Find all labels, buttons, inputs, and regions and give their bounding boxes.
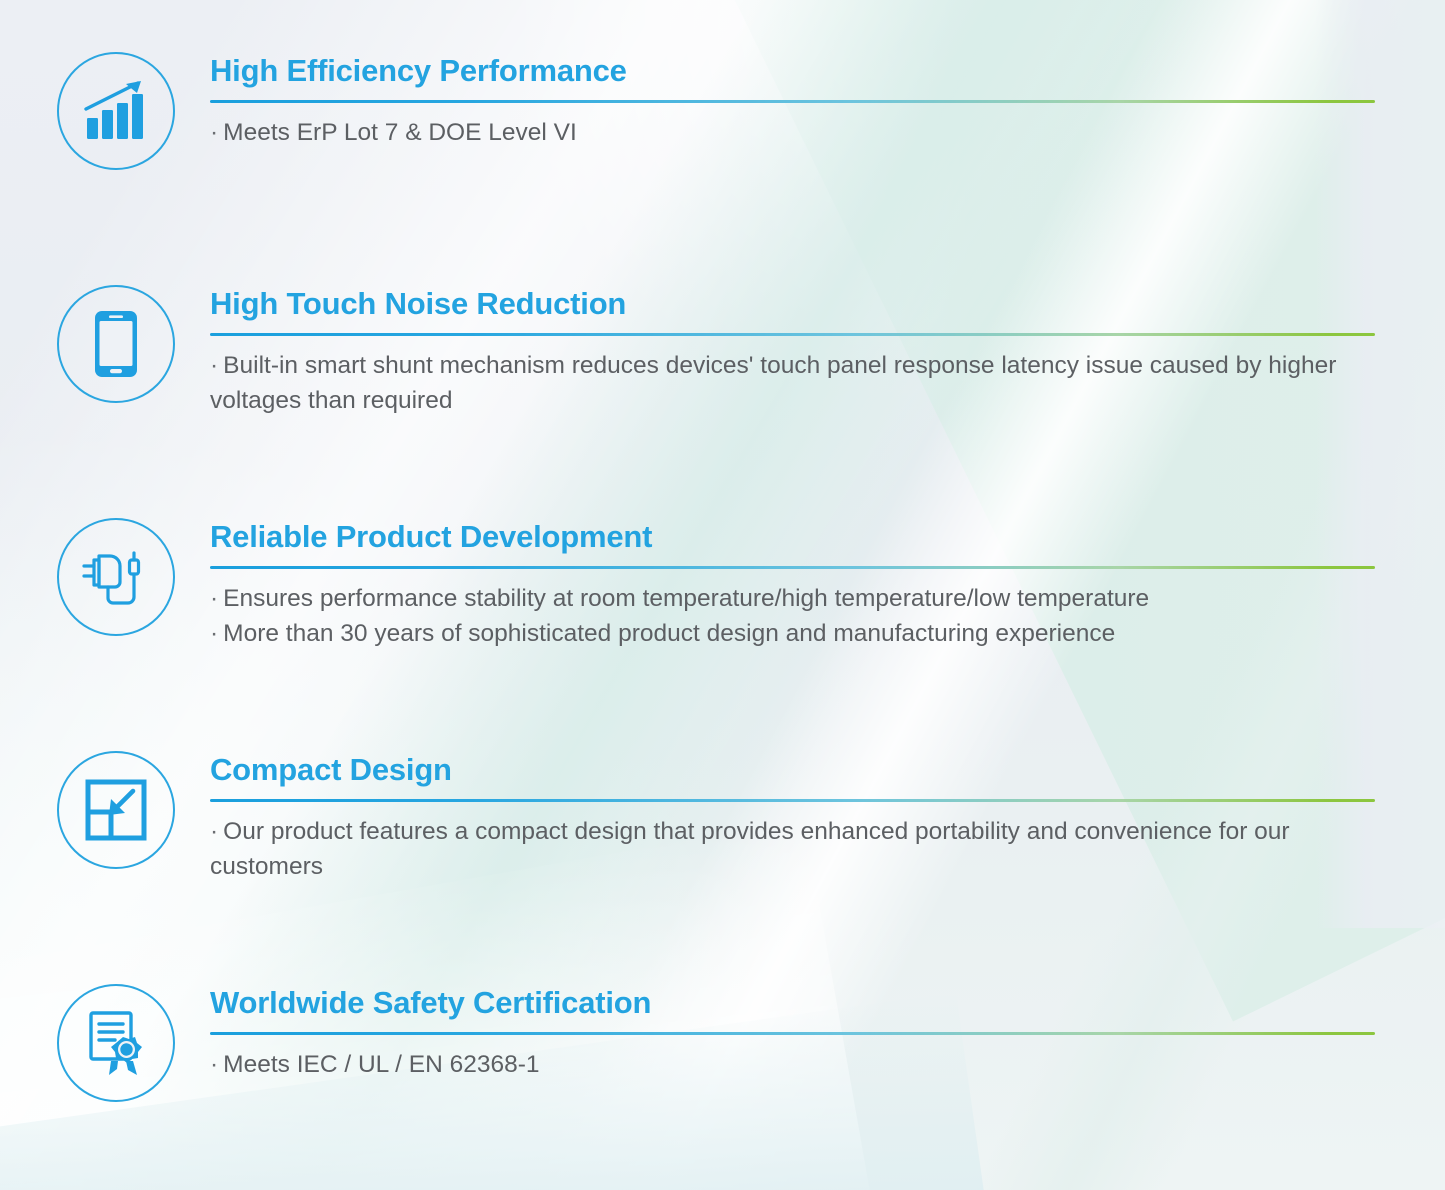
bullet-line: ·More than 30 years of sophisticated pro…	[210, 617, 1375, 652]
bullet-text: Meets IEC / UL / EN 62368-1	[223, 1051, 539, 1078]
feature-icon-wrap	[55, 749, 177, 871]
bullet-marker: ·	[210, 119, 218, 146]
feature-bullets: ·Ensures performance stability at room t…	[210, 582, 1375, 652]
bullet-line: ·Our product features a compact design t…	[210, 815, 1375, 885]
bullet-line: ·Meets ErP Lot 7 & DOE Level VI	[210, 116, 1375, 151]
feature-bullets: ·Built-in smart shunt mechanism reduces …	[210, 349, 1375, 419]
feature-title: Compact Design	[210, 753, 1375, 786]
icon-circle-border	[57, 285, 175, 403]
power-adapter-icon	[76, 544, 156, 610]
feature-divider	[210, 100, 1375, 103]
feature-item-reliable-product-development: Reliable Product Development ·Ensures pe…	[55, 516, 1375, 652]
feature-item-compact-design: Compact Design ·Our product features a c…	[55, 749, 1375, 885]
compact-resize-icon	[85, 779, 147, 841]
smartphone-icon	[92, 309, 140, 379]
feature-list-page: High Efficiency Performance ·Meets ErP L…	[0, 0, 1445, 1190]
feature-icon-wrap	[55, 982, 177, 1104]
bullet-marker: ·	[210, 818, 218, 845]
icon-circle-border	[57, 52, 175, 170]
bullet-text: More than 30 years of sophisticated prod…	[223, 620, 1115, 647]
icon-circle-border	[57, 751, 175, 869]
bullet-marker: ·	[210, 585, 218, 612]
feature-body: Worldwide Safety Certification ·Meets IE…	[177, 982, 1375, 1083]
feature-icon-wrap	[55, 283, 177, 405]
certificate-award-icon	[85, 1009, 147, 1077]
bullet-marker: ·	[210, 1051, 218, 1078]
feature-divider	[210, 566, 1375, 569]
feature-title: High Touch Noise Reduction	[210, 287, 1375, 320]
feature-divider	[210, 333, 1375, 336]
feature-body: High Efficiency Performance ·Meets ErP L…	[177, 50, 1375, 151]
feature-item-worldwide-safety-certification: Worldwide Safety Certification ·Meets IE…	[55, 982, 1375, 1104]
bullet-marker: ·	[210, 620, 218, 647]
feature-body: Reliable Product Development ·Ensures pe…	[177, 516, 1375, 652]
feature-bullets: ·Meets ErP Lot 7 & DOE Level VI	[210, 116, 1375, 151]
feature-bullets: ·Meets IEC / UL / EN 62368-1	[210, 1048, 1375, 1083]
bullet-text: Meets ErP Lot 7 & DOE Level VI	[223, 119, 577, 146]
bullet-text: Built-in smart shunt mechanism reduces d…	[210, 352, 1336, 414]
feature-title: Reliable Product Development	[210, 520, 1375, 553]
feature-item-high-touch-noise-reduction: High Touch Noise Reduction ·Built-in sma…	[55, 283, 1375, 419]
feature-icon-wrap	[55, 516, 177, 638]
bar-chart-growth-icon	[81, 78, 151, 144]
feature-bullets: ·Our product features a compact design t…	[210, 815, 1375, 885]
feature-body: High Touch Noise Reduction ·Built-in sma…	[177, 283, 1375, 419]
bullet-line: ·Meets IEC / UL / EN 62368-1	[210, 1048, 1375, 1083]
feature-title: Worldwide Safety Certification	[210, 986, 1375, 1019]
feature-icon-wrap	[55, 50, 177, 172]
feature-title: High Efficiency Performance	[210, 54, 1375, 87]
feature-divider	[210, 799, 1375, 802]
feature-item-high-efficiency-performance: High Efficiency Performance ·Meets ErP L…	[55, 50, 1375, 172]
bullet-line: ·Built-in smart shunt mechanism reduces …	[210, 349, 1375, 419]
icon-circle-border	[57, 984, 175, 1102]
bullet-text: Ensures performance stability at room te…	[223, 585, 1149, 612]
icon-circle-border	[57, 518, 175, 636]
bullet-marker: ·	[210, 352, 218, 379]
bullet-text: Our product features a compact design th…	[210, 818, 1290, 880]
feature-divider	[210, 1032, 1375, 1035]
feature-body: Compact Design ·Our product features a c…	[177, 749, 1375, 885]
bullet-line: ·Ensures performance stability at room t…	[210, 582, 1375, 617]
